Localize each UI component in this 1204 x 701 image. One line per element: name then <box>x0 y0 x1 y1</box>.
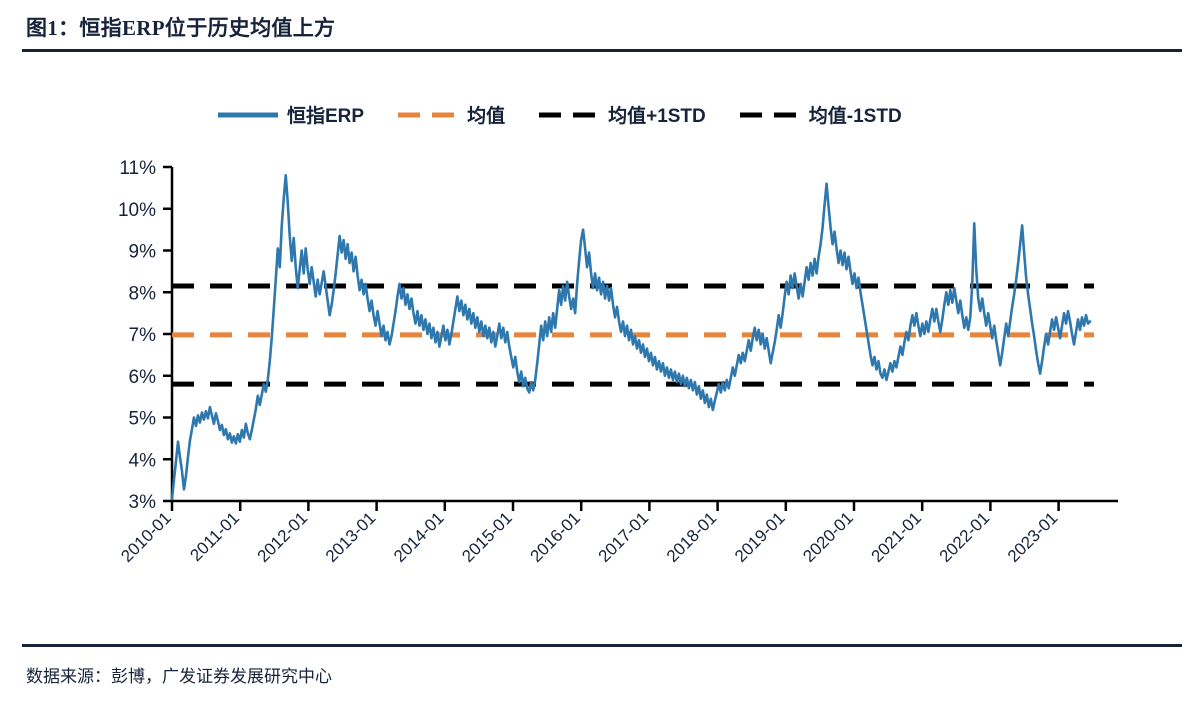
chart-legend: 恒指ERP 均值 均值+1STD 均值-1STD <box>218 101 936 128</box>
x-axis-tick-label: 2010-01 <box>117 508 175 566</box>
erp-line-chart: 3%4%5%6%7%8%9%10%11%2010-012011-012012-0… <box>0 140 1204 610</box>
y-axis-tick-label: 4% <box>129 450 157 471</box>
x-axis-tick-label: 2016-01 <box>526 508 584 566</box>
legend-item-mean[interactable]: 均值 <box>398 101 505 128</box>
legend-label-plus-1std: 均值+1STD <box>608 101 706 128</box>
x-axis-tick-label: 2012-01 <box>254 508 312 566</box>
figure-title: 图1：恒指ERP位于历史均值上方 <box>26 12 335 42</box>
y-axis-tick-label: 10% <box>118 200 156 221</box>
y-axis-tick-label: 7% <box>129 325 157 346</box>
x-axis-tick-label: 2020-01 <box>799 508 857 566</box>
legend-item-plus-1std[interactable]: 均值+1STD <box>539 101 706 128</box>
footer-divider <box>22 644 1182 647</box>
legend-label-minus-1std: 均值-1STD <box>809 101 902 128</box>
x-axis-tick-label: 2021-01 <box>867 508 925 566</box>
y-axis-tick-label: 8% <box>129 283 157 304</box>
y-axis-tick-label: 11% <box>119 158 156 179</box>
figure-source: 数据来源：彭博，广发证券发展研究中心 <box>26 662 332 687</box>
x-axis-tick-label: 2013-01 <box>322 508 380 566</box>
header-divider <box>22 49 1182 52</box>
legend-swatch-dashed-icon <box>539 106 599 124</box>
chart-plot-area: 3%4%5%6%7%8%9%10%11%2010-012011-012012-0… <box>0 140 1204 610</box>
figure-header: 图1：恒指ERP位于历史均值上方 <box>0 0 1204 52</box>
y-axis-tick-label: 3% <box>129 492 157 513</box>
x-axis-tick-label: 2019-01 <box>731 508 789 566</box>
legend-swatch-dashed-icon <box>398 106 458 124</box>
y-axis-tick-label: 5% <box>129 409 157 430</box>
y-axis-tick-label: 6% <box>129 367 157 388</box>
x-axis-tick-label: 2011-01 <box>186 508 243 565</box>
legend-item-minus-1std[interactable]: 均值-1STD <box>740 101 902 128</box>
x-axis-tick-label: 2017-01 <box>595 508 653 566</box>
x-axis-tick-label: 2015-01 <box>458 508 516 566</box>
legend-swatch-dashed-icon <box>740 106 800 124</box>
x-axis-tick-label: 2022-01 <box>936 508 994 566</box>
legend-item-series[interactable]: 恒指ERP <box>218 101 364 128</box>
legend-label-mean: 均值 <box>467 101 505 128</box>
x-axis-tick-label: 2014-01 <box>390 508 448 566</box>
legend-swatch-line-icon <box>218 106 278 124</box>
y-axis-tick-label: 9% <box>129 242 157 263</box>
legend-label-series: 恒指ERP <box>287 101 364 128</box>
x-axis-tick-label: 2018-01 <box>663 508 721 566</box>
x-axis-tick-label: 2023-01 <box>1004 508 1062 566</box>
